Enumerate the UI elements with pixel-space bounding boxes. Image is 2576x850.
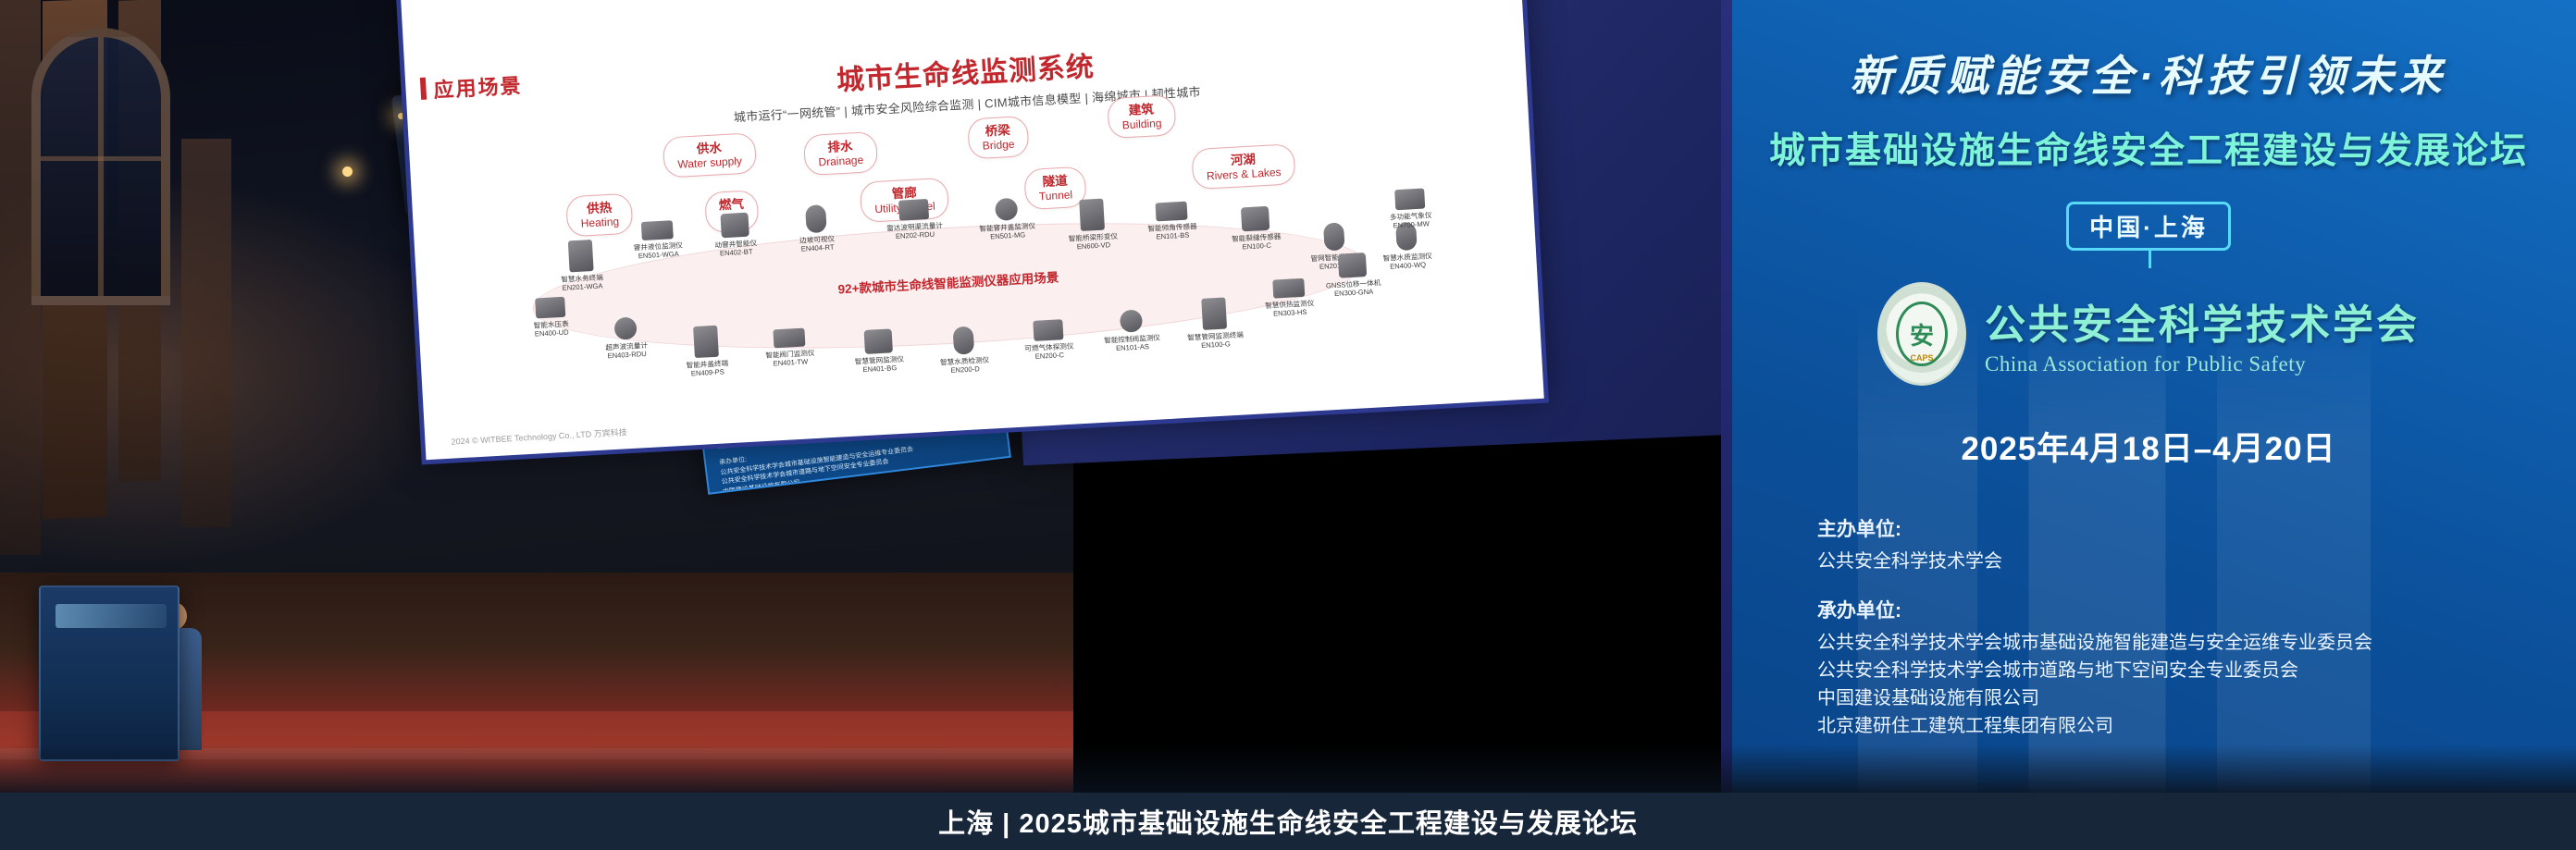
scenario-bubble-en: Building [1121, 117, 1161, 131]
device-icon [1323, 222, 1345, 251]
device-icon [1394, 189, 1425, 211]
device-icon [1033, 319, 1063, 341]
device-icon [1156, 202, 1188, 222]
caps-seal-icon: 安 CAPS [1877, 282, 1966, 386]
device-icon [535, 297, 565, 319]
stage-light [398, 113, 404, 119]
banner-title: 城市基础设施生命线安全工程建设与发展论坛 [1721, 122, 2576, 174]
device-item: 雷达波明渠流量计EN202-RDU [870, 197, 959, 241]
conference-banner: 新质赋能安全·科技引领未来 城市基础设施生命线安全工程建设与发展论坛 中国·上海… [1721, 0, 2576, 814]
podium-logo [56, 604, 167, 628]
banner-association-cn: 公共安全科学技术学会 [1985, 291, 2420, 351]
device-icon [1272, 278, 1305, 299]
scenario-bubble: 桥梁Bridge [967, 116, 1029, 160]
scenario-bubble-en: Rivers & Lakes [1207, 166, 1282, 183]
device-icon [805, 204, 827, 233]
device-item: 智慧管网监测仪EN401-BG [835, 327, 923, 376]
device-icon [568, 240, 594, 272]
device-icon [995, 198, 1018, 221]
scenario-bubble-cn: 桥梁 [982, 123, 1015, 140]
device-item: 超声波流量计EN403-RDU [582, 315, 671, 362]
banner-date: 2025年4月18日–4月20日 [1721, 423, 2576, 470]
banner-organizers: 主办单位: 公共安全科学技术学会 承办单位: 公共安全科学技术学会城市基础设施智… [1817, 514, 2576, 740]
device-icon [693, 326, 719, 358]
arched-window [31, 28, 170, 305]
device-icon [720, 213, 749, 239]
scenario-bubble: 建筑Building [1107, 94, 1176, 139]
scenario-bubble-en: Drainage [818, 154, 863, 169]
banner-slogan: 新质赋能安全·科技引领未来 [1721, 43, 2576, 104]
banner-co-item: 公共安全科学技术学会城市道路与地下空间安全专业委员会 [1817, 657, 2576, 684]
device-icon [773, 328, 805, 349]
device-icon [1201, 297, 1227, 329]
banner-co-item: 公共安全科学技术学会城市基础设施智能建造与安全运维专业委员会 [1817, 629, 2576, 657]
device-icon [898, 199, 929, 221]
caption-text: 上海 | 2025城市基础设施生命线安全工程建设与发展论坛 [938, 802, 1638, 841]
bottom-gradient [0, 745, 2576, 793]
stage-light [342, 166, 353, 177]
device-item: 窨井液位监测仪EN501-WGA [613, 219, 702, 262]
banner-co-label: 承办单位: [1817, 596, 2576, 623]
device-item: 边坡可视仪EN404-RT [772, 203, 861, 254]
banner-co-item: 中国建设基础设施有限公司 [1817, 684, 2576, 712]
device-icon [1120, 309, 1143, 332]
device-item: 智能桥梁形变仪EN600-VD [1047, 197, 1137, 253]
device-item: 智能阀门监测仪EN401-TW [745, 326, 834, 369]
device-item: 智能控制阀监测仪EN101-AS [1087, 308, 1176, 354]
scenario-bubble: 排水Drainage [803, 131, 878, 176]
device-item: 智慧水务终端EN201-WGA [537, 238, 626, 293]
banner-association-text: 公共安全科学技术学会 China Association for Public … [1985, 291, 2420, 376]
device-icon [953, 326, 975, 355]
device-item: 动窨井智能仪EN402-BT [690, 211, 779, 259]
device-item: 智能井盖终端EN409-PS [662, 324, 751, 379]
banner-host-label: 主办单位: [1817, 514, 2576, 542]
scenario-bubble: 供水Water supply [663, 132, 757, 178]
scenario-bubble: 河湖Rivers & Lakes [1191, 143, 1295, 190]
device-icon [1338, 253, 1367, 278]
device-icon [1079, 199, 1105, 231]
slide-footer: 2024 © WITBEE Technology Co., LTD 万宾科技 [451, 425, 627, 447]
device-icon [1241, 206, 1269, 232]
device-item: 多功能气象仪EN700-MW [1366, 187, 1455, 231]
device-icon [864, 328, 893, 354]
scenario-bubble-cn: 燃气 [719, 197, 745, 213]
presentation-slide: WITBEE 万宾 应用场景 城市生命线监测系统 城市运行“一网统管” | 城市… [400, 0, 1544, 460]
wall-panel [181, 139, 231, 527]
banner-host: 公共安全科学技术学会 [1817, 548, 2576, 575]
scenario-bubble-en: Water supply [677, 154, 742, 171]
banner-association-row: 安 CAPS 公共安全科学技术学会 China Association for … [1721, 282, 2576, 386]
device-item: 智能倾角传感器EN101-BS [1128, 200, 1217, 242]
device-item: 智能窨井盖监测仪EN501-MG [962, 196, 1051, 242]
podium [39, 585, 180, 761]
banner-location-chip: 中国·上海 [2066, 202, 2231, 251]
screenshot-stage: 新质赋能安全·科技引领未来 城市基础设施生命线安全工程建设与发展论坛 中国·上海… [0, 0, 2576, 850]
device-item: 智能裂缝传感器EN100-C [1211, 204, 1300, 253]
scenario-bubble-cn: 隧道 [1038, 173, 1072, 190]
device-item: 可燃气体探测仪EN200-C [1004, 317, 1093, 362]
banner-co-item: 北京建研住工建筑工程集团有限公司 [1817, 712, 2576, 740]
caps-seal-caption: CAPS [1880, 353, 1963, 363]
banner-association-en: China Association for Public Safety [1985, 352, 2420, 376]
caption-bar: 上海 | 2025城市基础设施生命线安全工程建设与发展论坛 [0, 793, 2576, 850]
scenario-bubble-en: Bridge [982, 138, 1014, 153]
device-icon [613, 317, 637, 340]
device-item: 智慧水质检测仪EN200-D [920, 325, 1009, 376]
device-icon [641, 220, 674, 240]
banner-co-list: 公共安全科学技术学会城市基础设施智能建造与安全运维专业委员会公共安全科学技术学会… [1817, 629, 2576, 740]
